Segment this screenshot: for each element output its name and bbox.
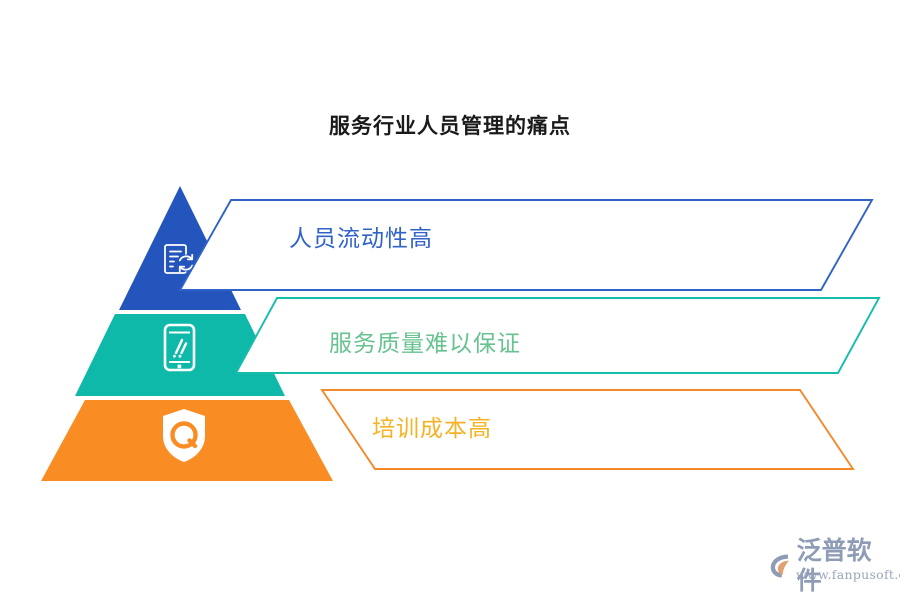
banner-label-middle: 服务质量难以保证	[329, 329, 521, 359]
logo-name: 泛普软件	[797, 536, 892, 596]
banner-top[interactable]	[180, 200, 872, 290]
fanpu-crescent-icon	[766, 551, 795, 581]
banner-label-bottom: 培训成本高	[372, 414, 492, 444]
banner-label-top: 人员流动性高	[289, 224, 433, 254]
logo-url: www.fanpusoft.com	[796, 567, 900, 582]
brand-logo[interactable]: 泛普软件 www.fanpusoft.com	[766, 536, 892, 584]
pyramid-diagram	[0, 0, 900, 600]
pyramid-level-bottom[interactable]	[41, 400, 333, 481]
slide-canvas: 服务行业人员管理的痛点	[0, 0, 900, 600]
logo-row: 泛普软件	[766, 536, 892, 596]
